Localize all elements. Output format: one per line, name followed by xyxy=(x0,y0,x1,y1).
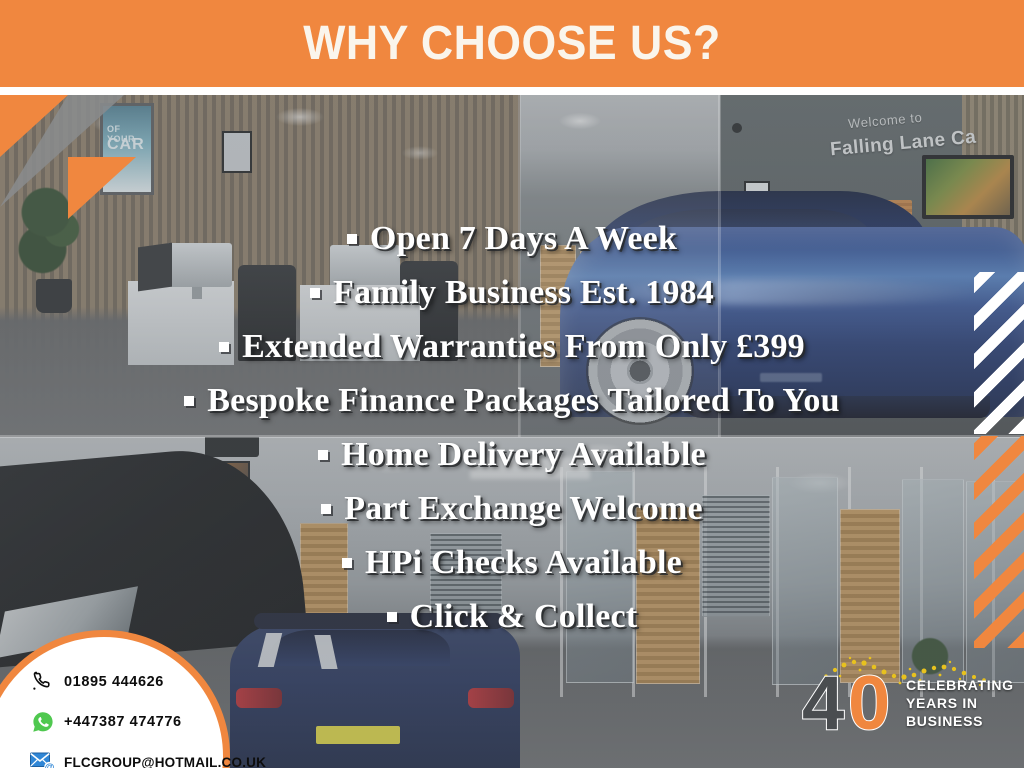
phone-number: 01895 444626 xyxy=(64,674,164,690)
collage-tint xyxy=(521,95,719,437)
wall-monitor xyxy=(205,437,259,457)
window-blinds xyxy=(702,495,770,617)
anniversary-badge: 4 0 CELEBRATING YEARS IN BUSINESS xyxy=(802,650,1010,754)
badge-caption-line2: YEARS IN xyxy=(906,694,1014,712)
badge-digit-0: 0 xyxy=(848,666,886,742)
email-icon: @ xyxy=(30,749,56,768)
glass-pane xyxy=(566,471,634,683)
contact-row-phone[interactable]: 01895 444626 xyxy=(30,665,260,699)
rear-window xyxy=(270,630,450,666)
office-chair xyxy=(138,243,172,292)
car-side-skirt xyxy=(680,396,990,418)
collage-seam xyxy=(718,95,721,437)
collage-seam xyxy=(0,435,1024,438)
monitor xyxy=(166,243,232,287)
security-camera xyxy=(732,123,742,133)
email-address: FLCGROUP@HOTMAIL.CO.UK xyxy=(64,755,266,768)
badge-caption: CELEBRATING YEARS IN BUSINESS xyxy=(906,676,1014,730)
office-chair xyxy=(238,265,296,361)
diagonal-stripes-orange xyxy=(974,436,1024,648)
contact-list: 01895 444626 +447387 474776 xyxy=(30,665,260,768)
contact-row-whatsapp[interactable]: +447387 474776 xyxy=(30,705,260,739)
corner-spacer xyxy=(110,95,200,125)
page-title: WHY CHOOSE US? xyxy=(36,0,988,87)
why-choose-us-poster: OF YOUR CAR We xyxy=(0,0,1024,768)
corner-chevron-graphic xyxy=(0,95,200,235)
desk xyxy=(300,285,420,361)
badge-caption-line3: BUSINESS xyxy=(906,712,1014,730)
number-plate xyxy=(316,726,400,744)
framed-picture xyxy=(222,131,252,173)
diagonal-stripes-white xyxy=(974,272,1024,434)
tail-light xyxy=(468,688,514,708)
reception-desk xyxy=(128,281,234,365)
car-badge xyxy=(760,373,822,382)
plant-pot xyxy=(36,279,72,313)
car-spoiler xyxy=(254,613,504,629)
header-bar: WHY CHOOSE US? xyxy=(0,0,1024,87)
collage-seam xyxy=(518,95,521,437)
badge-digit-4: 4 xyxy=(802,666,840,742)
phone-icon xyxy=(30,669,56,695)
whatsapp-number: +447387 474776 xyxy=(64,714,182,730)
whatsapp-icon xyxy=(30,709,56,735)
header-divider xyxy=(0,87,1024,95)
corner-orange-triangle-2 xyxy=(68,157,136,219)
monitor-stand xyxy=(192,287,202,299)
svg-text:@: @ xyxy=(45,762,55,768)
office-door xyxy=(636,507,700,684)
badge-caption-line1: CELEBRATING xyxy=(906,676,1014,694)
wall-welcome-text: Welcome to xyxy=(847,110,922,131)
ceiling-light xyxy=(470,457,590,479)
contact-row-email[interactable]: @ FLCGROUP@HOTMAIL.CO.UK xyxy=(30,745,260,768)
